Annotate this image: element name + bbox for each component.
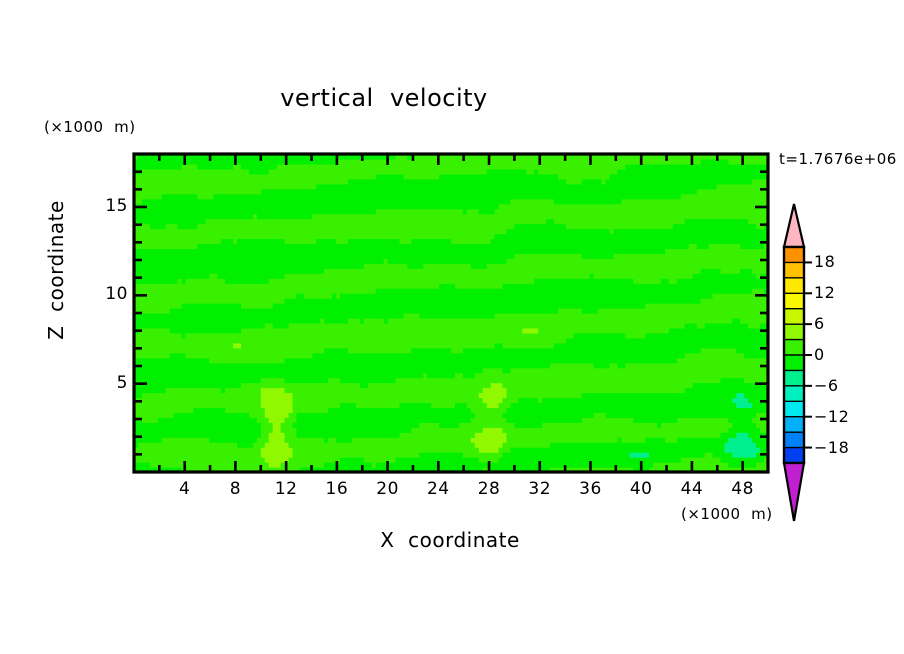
x-tick-label: 28 — [469, 479, 509, 499]
y-axis-title: Z coordinate — [44, 190, 68, 350]
colorbar-band — [784, 309, 804, 325]
x-tick-label: 36 — [570, 479, 610, 499]
colorbar-band — [784, 247, 804, 263]
y-tick-label: 10 — [88, 284, 128, 304]
colorbar-band — [784, 417, 804, 433]
colorbar-band — [784, 340, 804, 356]
colorbar-label: −18 — [814, 438, 849, 457]
colorbar-label: 18 — [814, 252, 835, 271]
colorbar-label: 12 — [814, 283, 835, 302]
colorbar-band — [784, 370, 804, 386]
x-tick-label: 32 — [520, 479, 560, 499]
colorbar-band — [784, 355, 804, 371]
colorbar-band — [784, 262, 804, 278]
page-title: vertical velocity — [0, 84, 768, 112]
y-axis-unit-label: (×1000 m) — [44, 118, 136, 136]
x-tick-label: 8 — [215, 479, 255, 499]
x-axis-title: X coordinate — [260, 528, 640, 552]
x-tick-label: 12 — [266, 479, 306, 499]
x-tick-label: 24 — [418, 479, 458, 499]
x-axis-unit-label: (×1000 m) — [681, 505, 773, 523]
x-tick-label: 20 — [368, 479, 408, 499]
colorbar-band — [784, 293, 804, 309]
contour-field — [134, 154, 769, 473]
x-tick-label: 44 — [672, 479, 712, 499]
colorbar-band — [784, 278, 804, 294]
colorbar-label: −6 — [814, 376, 839, 395]
colorbar-band — [784, 401, 804, 417]
colorbar-label: −12 — [814, 407, 849, 426]
colorbar-label: 0 — [814, 345, 825, 364]
colorbar-band — [784, 324, 804, 340]
x-tick-label: 16 — [317, 479, 357, 499]
y-tick-label: 5 — [88, 373, 128, 393]
colorbar-band — [784, 432, 804, 448]
y-tick-label: 15 — [88, 196, 128, 216]
time-annotation: t=1.7676e+06 — [779, 150, 897, 168]
x-tick-label: 4 — [165, 479, 205, 499]
colorbar-band — [784, 386, 804, 402]
colorbar-band — [784, 448, 804, 464]
colorbar-label: 6 — [814, 314, 825, 333]
x-tick-label: 40 — [621, 479, 661, 499]
x-tick-label: 48 — [723, 479, 763, 499]
